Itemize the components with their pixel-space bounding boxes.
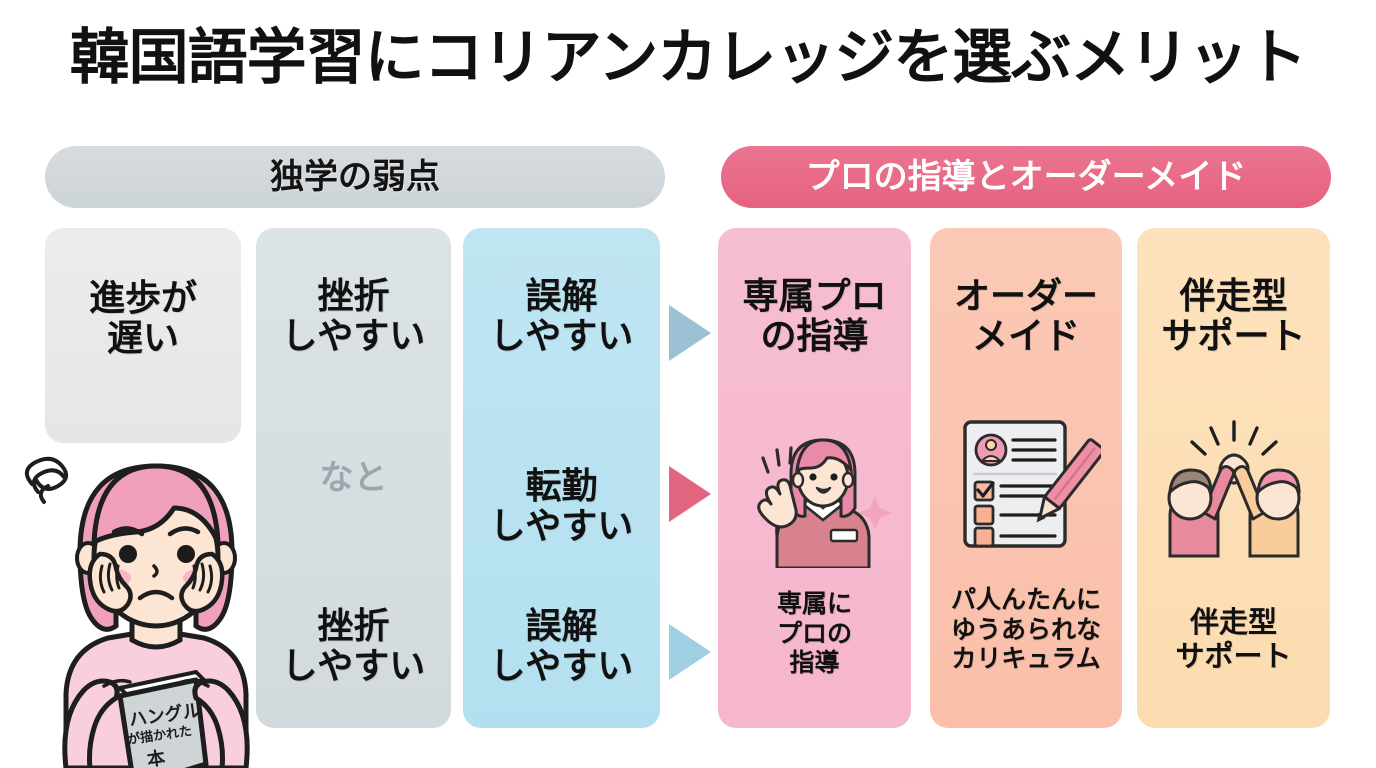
high-five-two-people-icon: [1137, 416, 1330, 566]
title-line: オーダー: [930, 276, 1122, 316]
title-line: メイド: [930, 316, 1122, 356]
section-header-left-label: 独学の弱点: [270, 160, 440, 194]
card-dedicated-pro-title: 専属プロ の指導: [718, 276, 911, 357]
caption-line: 伴走型: [1137, 606, 1330, 640]
middle-line: しやすい: [463, 506, 660, 546]
caption-line: プロの: [718, 620, 911, 650]
card-dedicated-pro-caption: 専属に プロの 指導: [718, 590, 911, 679]
card-misunderstanding-easy: 誤解 しやすい 転勤 しやすい 誤解 しやすい: [463, 228, 660, 728]
worried-girl-with-book-icon: ハングル が描かれた 本: [8, 436, 308, 768]
title-line: サポート: [1137, 316, 1330, 356]
title-line: しやすい: [256, 316, 451, 356]
title-line: しやすい: [463, 316, 660, 356]
title-line: 挫折: [256, 276, 451, 316]
arrow-right-icon-3: [669, 624, 711, 680]
middle-line: 転勤: [463, 466, 660, 506]
page-title: 韓国語学習にコリアンカレッジを選ぶメリット: [0, 26, 1376, 91]
caption-line: ゆうあられな: [930, 616, 1122, 646]
card-order-made: オーダー メイド: [930, 228, 1122, 728]
bottom-line: しやすい: [463, 646, 660, 686]
caption-line: 指導: [718, 649, 911, 679]
card-misunderstanding-easy-middle: 転勤 しやすい: [463, 466, 660, 547]
arrow-right-icon-1: [669, 305, 711, 361]
infographic-canvas: 韓国語学習にコリアンカレッジを選ぶメリット 独学の弱点 プロの指導とオーダーメイ…: [0, 0, 1376, 768]
title-line: 遅い: [45, 318, 241, 358]
section-header-right-label: プロの指導とオーダーメイド: [806, 160, 1247, 194]
title-line: 専属プロ: [718, 276, 911, 316]
section-header-left: 独学の弱点: [45, 146, 665, 208]
card-setback-easy-title: 挫折 しやすい: [256, 276, 451, 357]
card-progress-slow-title: 進歩が 遅い: [45, 278, 241, 359]
title-line: 進歩が: [45, 278, 241, 318]
bottom-line: 誤解: [463, 606, 660, 646]
arrow-right-icon-2: [669, 466, 711, 522]
title-line: 誤解: [463, 276, 660, 316]
card-companion-support-title: 伴走型 サポート: [1137, 276, 1330, 357]
caption-line: パ人んたんに: [930, 586, 1122, 616]
card-companion-support: 伴走型 サポート: [1137, 228, 1330, 728]
card-misunderstanding-easy-bottom: 誤解 しやすい: [463, 606, 660, 687]
card-companion-support-caption: 伴走型 サポート: [1137, 606, 1330, 674]
section-header-right: プロの指導とオーダーメイド: [721, 146, 1331, 208]
waving-woman-instructor-icon: [718, 418, 911, 568]
caption-line: カリキュラム: [930, 645, 1122, 675]
clipboard-checklist-pencil-icon: [930, 414, 1122, 554]
card-dedicated-pro: 専属プロ の指導: [718, 228, 911, 728]
caption-line: 専属に: [718, 590, 911, 620]
card-order-made-caption: パ人んたんに ゆうあられな カリキュラム: [930, 586, 1122, 675]
svg-text:本: 本: [146, 747, 167, 768]
title-line: の指導: [718, 316, 911, 356]
title-line: 伴走型: [1137, 276, 1330, 316]
card-misunderstanding-easy-title: 誤解 しやすい: [463, 276, 660, 357]
caption-line: サポート: [1137, 640, 1330, 674]
card-order-made-title: オーダー メイド: [930, 276, 1122, 357]
card-progress-slow: 進歩が 遅い: [45, 228, 241, 443]
